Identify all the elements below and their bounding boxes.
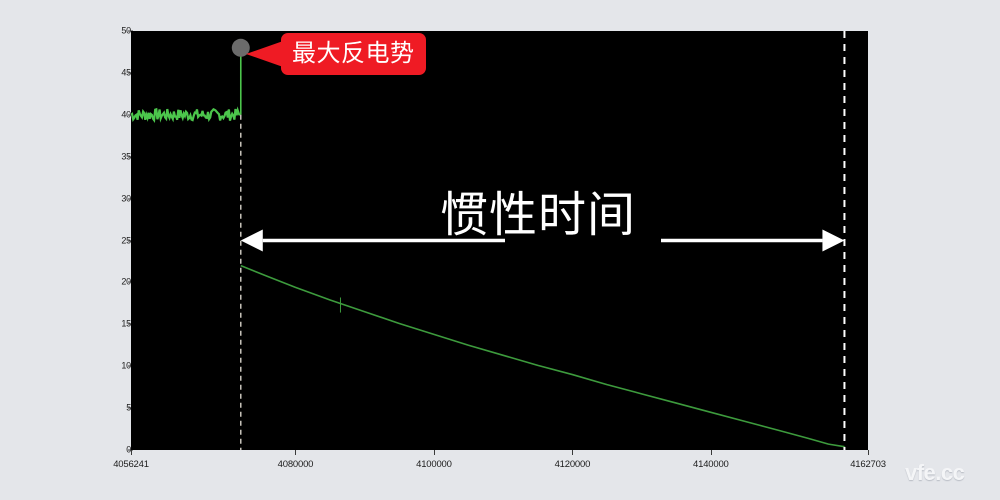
watermark-primary: vfe xyxy=(905,460,935,485)
x-tick-label: 4140000 xyxy=(693,460,729,470)
callout-pointer-icon xyxy=(246,40,286,68)
y-tick-label: 25 xyxy=(101,236,131,245)
y-tick-label: 50 xyxy=(101,27,131,36)
signal-series xyxy=(131,48,844,448)
y-tick-label: 20 xyxy=(101,278,131,287)
arrow-head-left-icon xyxy=(241,230,263,252)
x-tick-label: 4162703 xyxy=(850,460,886,470)
y-tick-label: 35 xyxy=(101,152,131,161)
y-tick-label: 10 xyxy=(101,362,131,371)
x-tick-mark xyxy=(434,450,435,455)
x-tick-label: 4080000 xyxy=(278,460,314,470)
x-axis: 4056241408000041000004120000414000041627… xyxy=(0,450,1000,480)
x-tick-label: 4100000 xyxy=(416,460,452,470)
x-tick-mark xyxy=(711,450,712,455)
watermark: vfe.cc xyxy=(905,462,964,484)
max-back-emf-callout: 最大反电势 xyxy=(281,33,426,75)
decay-trace xyxy=(241,266,845,447)
x-tick-mark xyxy=(131,450,132,455)
y-axis: 05101520253035404550 xyxy=(95,0,131,500)
x-tick-label: 4120000 xyxy=(555,460,591,470)
y-tick-label: 30 xyxy=(101,194,131,203)
callout-label: 最大反电势 xyxy=(292,42,415,66)
y-tick-label: 45 xyxy=(101,68,131,77)
y-tick-label: 15 xyxy=(101,320,131,329)
x-tick-mark xyxy=(868,450,869,455)
watermark-secondary: .cc xyxy=(935,460,964,485)
y-tick-label: 5 xyxy=(101,404,131,413)
plateau-trace xyxy=(131,109,240,121)
inertia-time-label: 惯性时间 xyxy=(440,192,636,240)
y-tick-label: 40 xyxy=(101,110,131,119)
x-tick-label: 4056241 xyxy=(113,460,149,470)
x-tick-mark xyxy=(572,450,573,455)
x-tick-mark xyxy=(295,450,296,455)
arrow-head-right-icon xyxy=(822,230,844,252)
chart-screenshot: 05101520253035404550 最大反电势 惯性时间 40562414… xyxy=(0,0,1000,500)
